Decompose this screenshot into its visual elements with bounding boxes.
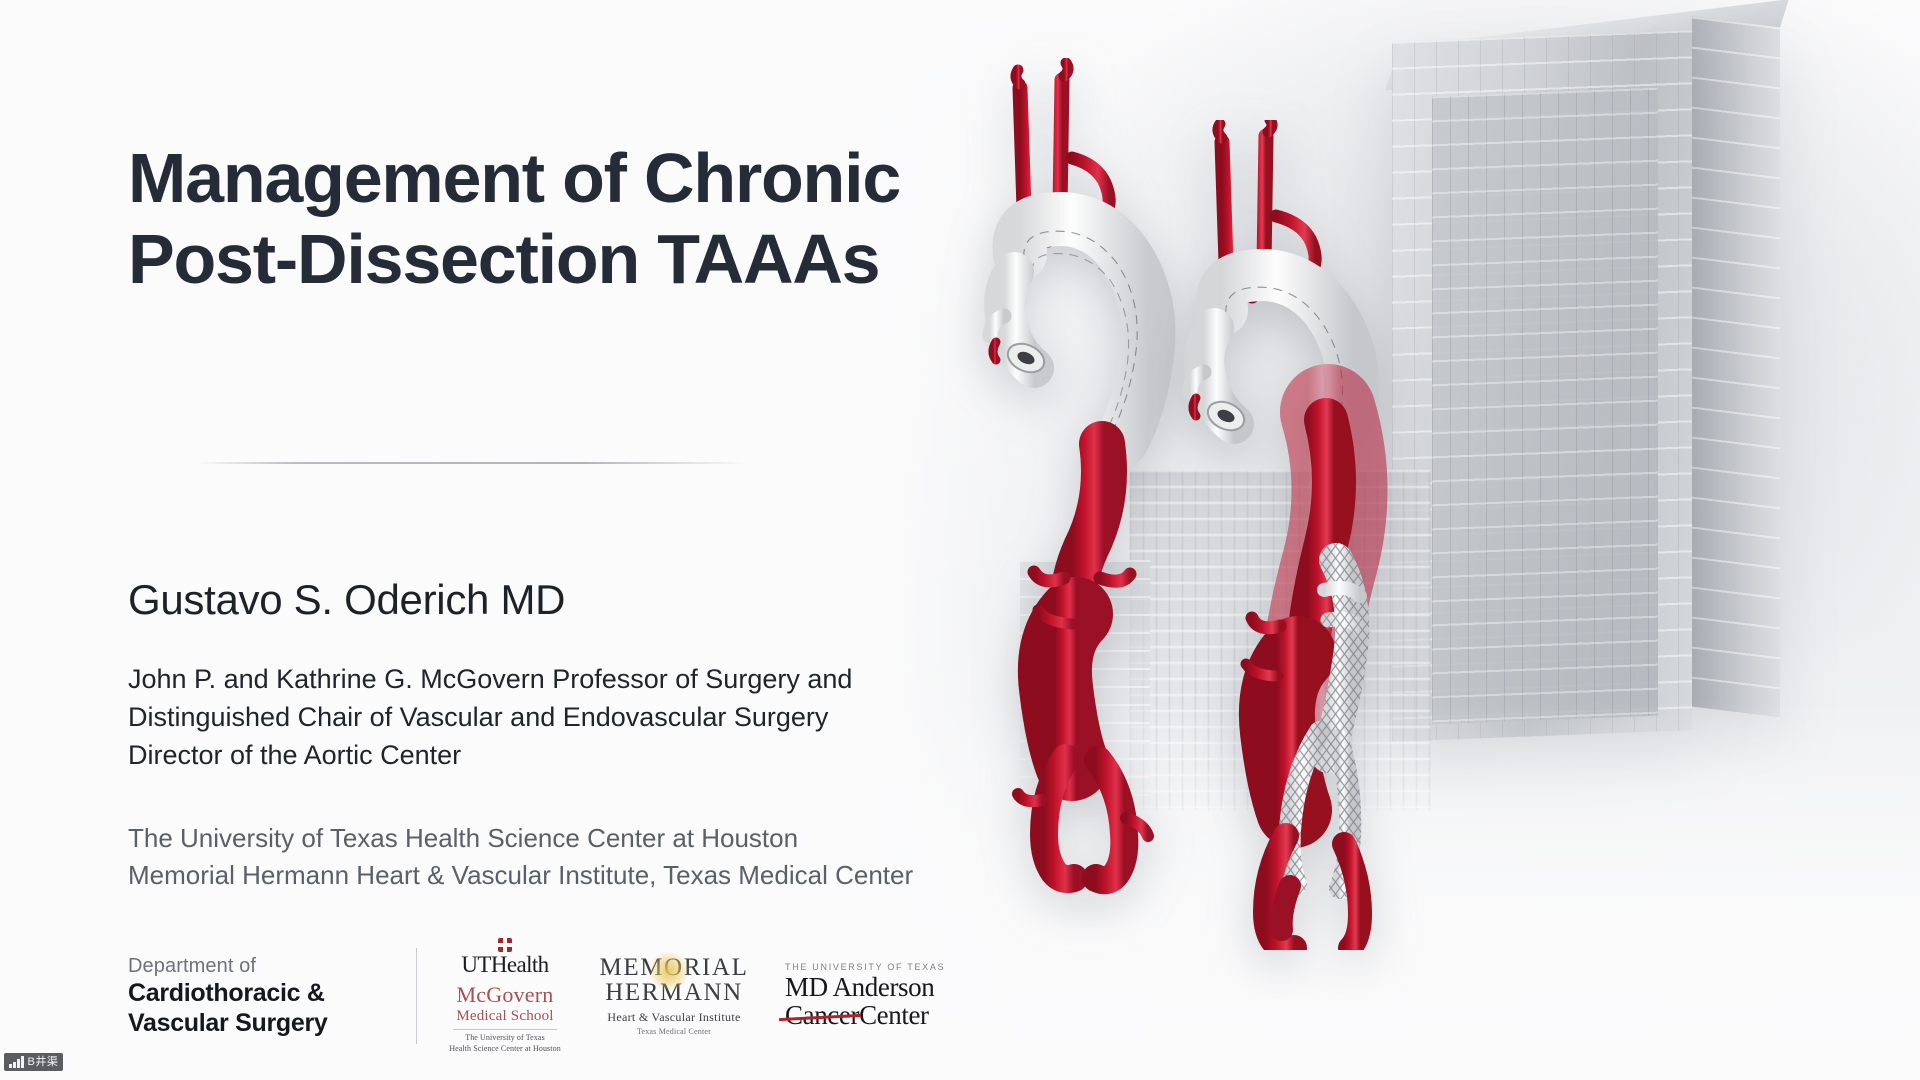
presentation-slide: Management of Chronic Post-Dissection TA… — [0, 0, 1920, 1080]
mcgovern-subtitle: Medical School — [445, 1008, 565, 1025]
md-anderson-eyebrow: THE UNIVERSITY OF TEXAS — [785, 962, 955, 972]
title-divider-rule — [196, 462, 748, 464]
cancer-struck-word: Cancer — [785, 1000, 859, 1030]
signal-strength-badge: B井渠 — [4, 1053, 63, 1071]
logo-md-anderson: THE UNIVERSITY OF TEXAS MD Anderson Canc… — [785, 962, 955, 1029]
speaker-name: Gustavo S. Oderich MD — [128, 576, 565, 624]
uthealth-rule — [453, 1029, 557, 1030]
department-eyebrow: Department of — [128, 954, 398, 979]
md-anderson-cancer-center-line: CancerCenter — [785, 1002, 929, 1030]
uthealth-wordmark: UTHealth — [445, 952, 565, 978]
memorial-hermann-glow-icon — [649, 951, 689, 991]
logo-divider — [416, 948, 417, 1044]
red-cross-icon — [445, 938, 565, 953]
signal-bars-icon — [9, 1056, 24, 1068]
speaker-affiliation: The University of Texas Health Science C… — [128, 820, 1228, 894]
badge-label: B井渠 — [28, 1057, 59, 1068]
page-title: Management of Chronic Post-Dissection TA… — [128, 138, 1208, 300]
institution-logo-bar: Department of Cardiothoracic & Vascular … — [128, 938, 955, 1054]
speaker-roles: John P. and Kathrine G. McGovern Profess… — [128, 660, 1158, 774]
texas-medical-center-label: Texas Medical Center — [599, 1027, 749, 1036]
mcgovern-wordmark: McGovern — [445, 982, 565, 1008]
logo-uthealth-mcgovern: UTHealth McGovern Medical School The Uni… — [445, 938, 565, 1054]
department-name: Cardiothoracic & Vascular Surgery — [128, 979, 398, 1038]
center-word: Center — [859, 1000, 929, 1030]
logo-memorial-hermann: MEMORIAL HERMANN Heart & Vascular Instit… — [599, 956, 749, 1036]
md-anderson-wordmark: MD Anderson — [785, 974, 955, 1002]
logo-department-cardiothoracic: Department of Cardiothoracic & Vascular … — [128, 954, 398, 1038]
uthealth-fineprint: The University of Texas Health Science C… — [445, 1033, 565, 1054]
heart-vascular-institute-label: Heart & Vascular Institute — [599, 1010, 749, 1025]
